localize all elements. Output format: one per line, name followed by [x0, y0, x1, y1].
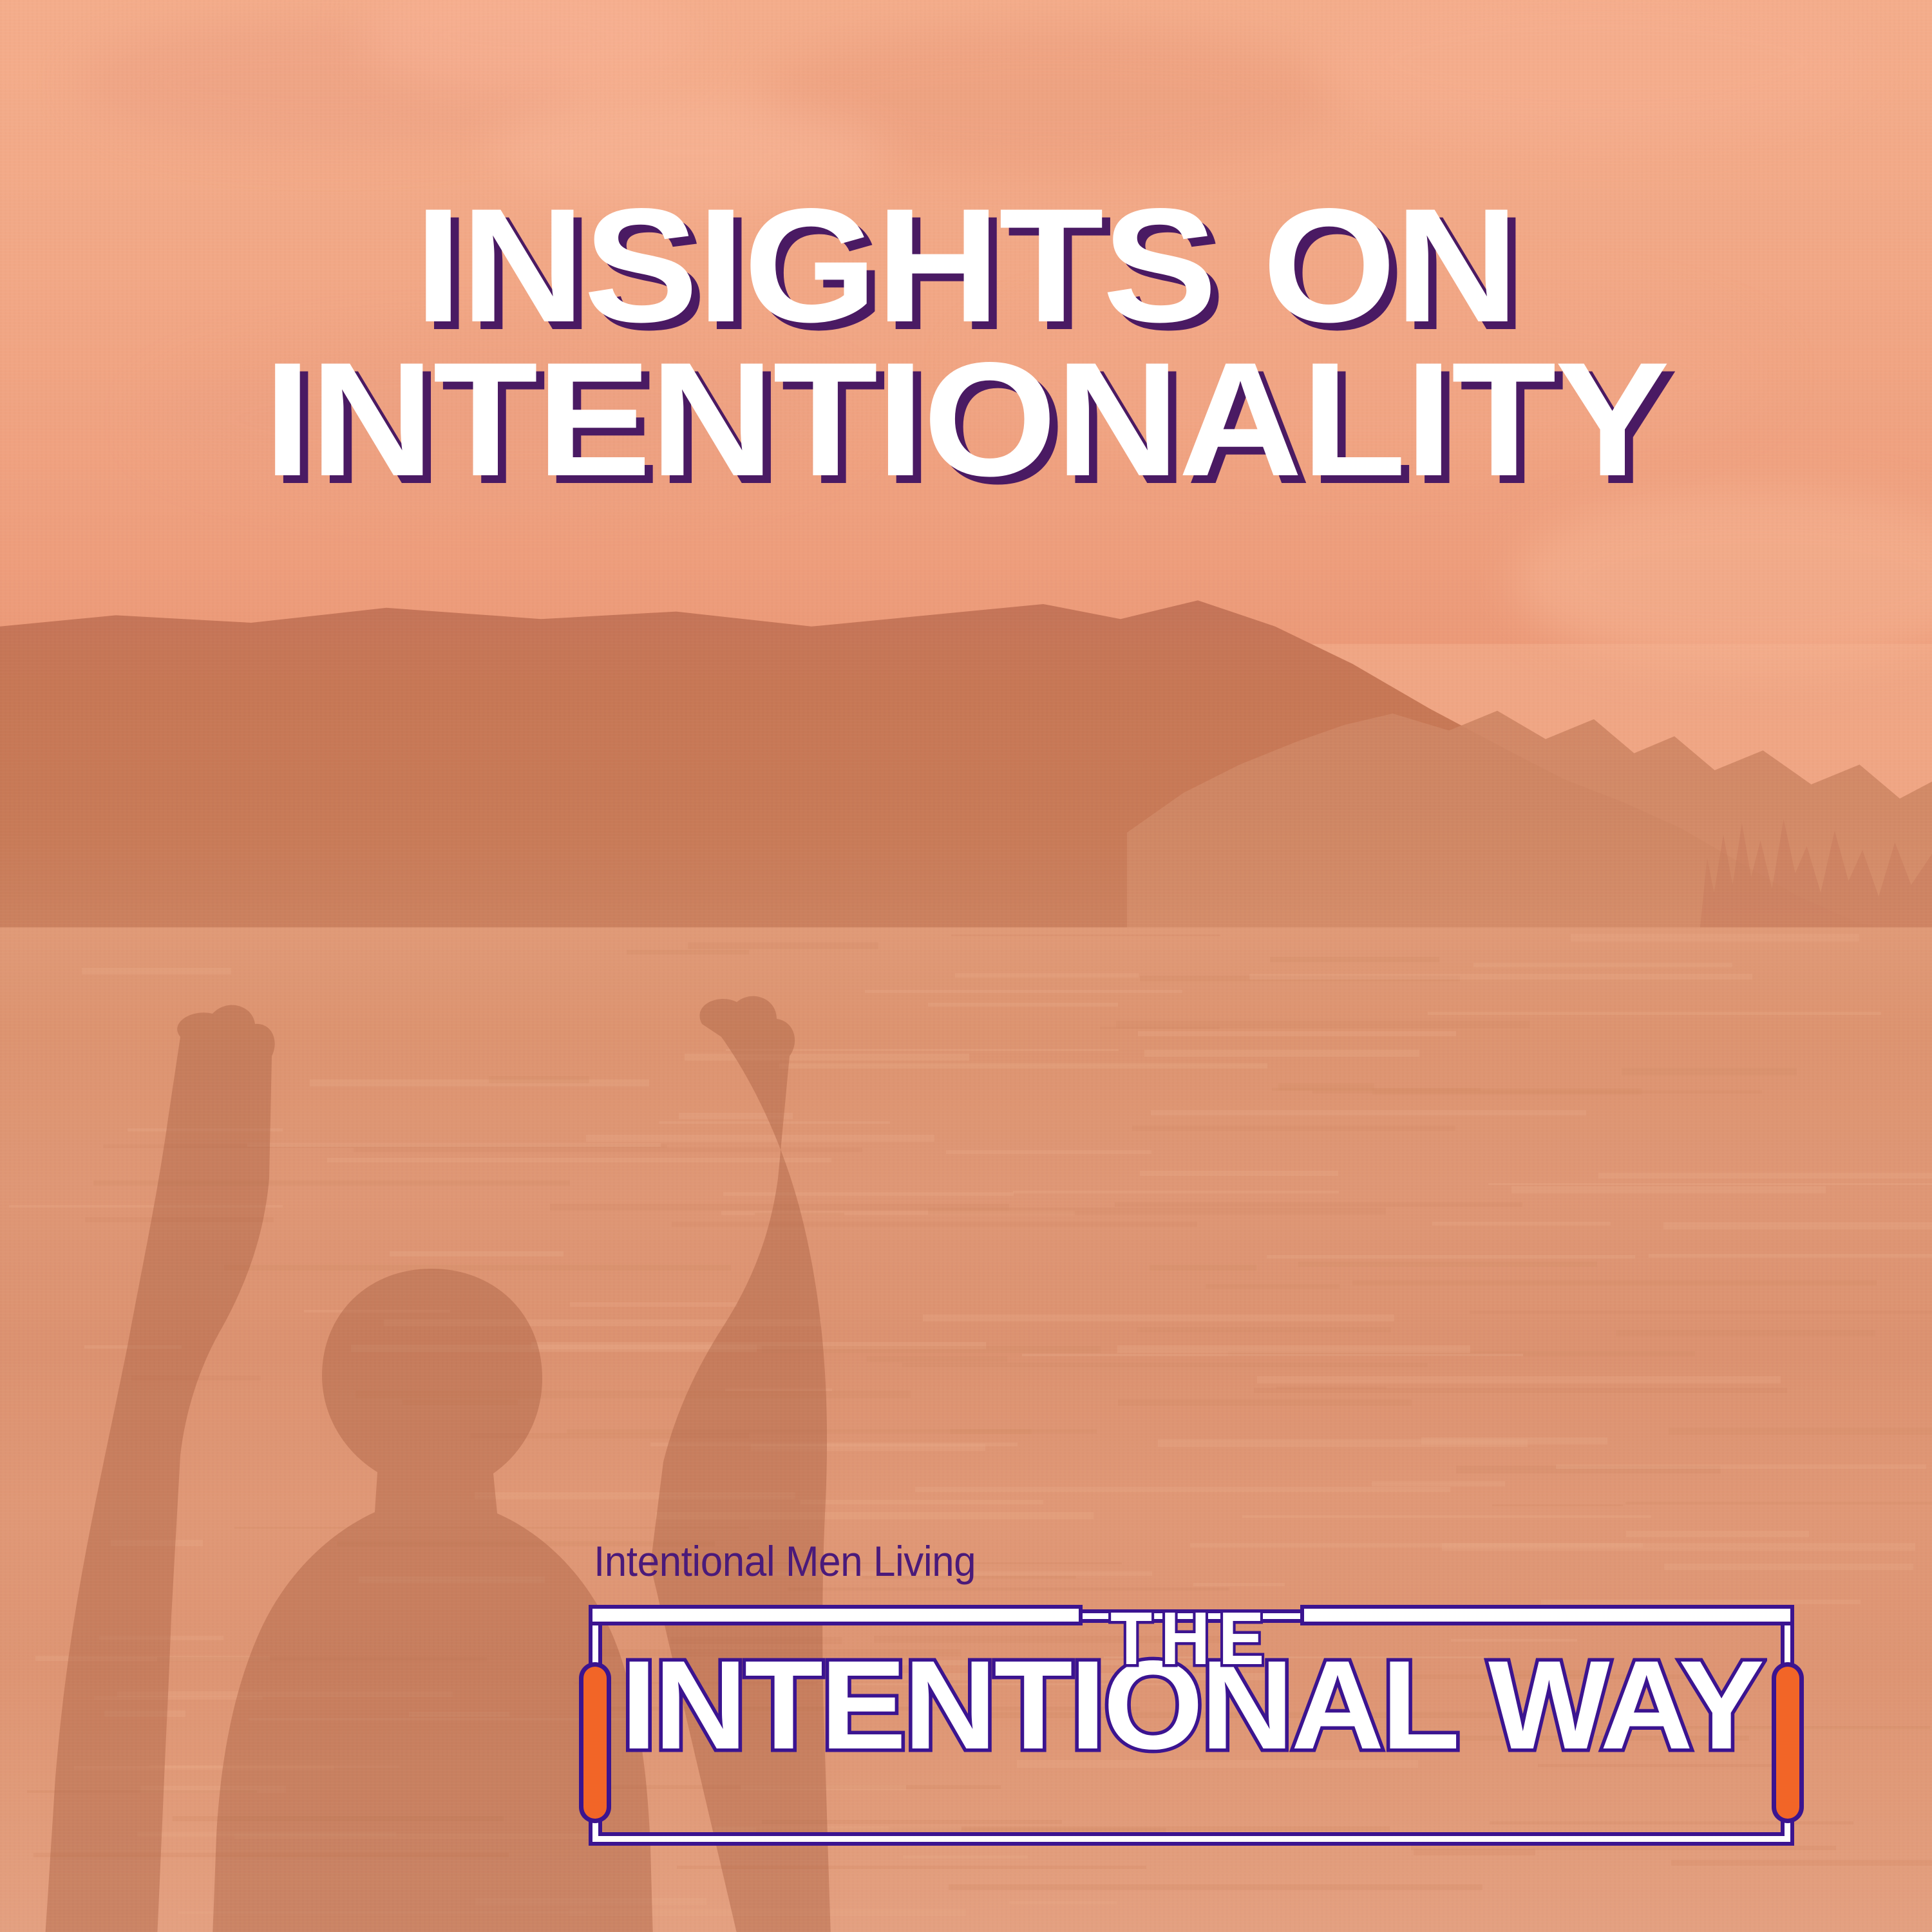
logo-accent-pill-left	[583, 1667, 607, 1819]
water-streak	[1556, 1464, 1926, 1469]
water-streak	[1022, 1354, 1522, 1357]
water-streak	[1492, 1504, 1624, 1506]
logo-tagline: Intentional Men Living	[594, 1537, 976, 1586]
water-streak	[1671, 1860, 1932, 1866]
water-streak	[1118, 1399, 1411, 1406]
water-streak	[1428, 1012, 1881, 1016]
water-streak	[1488, 1183, 1932, 1186]
episode-title: INSIGHTS ON INTENTIONALITY	[0, 193, 1932, 493]
water-streak	[1254, 1388, 1787, 1394]
water-streak	[1206, 1284, 1339, 1288]
water-streak	[946, 1150, 1151, 1154]
water-streak	[1267, 1255, 1635, 1259]
water-streak	[902, 1363, 1428, 1367]
logo-article-the: THE	[1102, 1601, 1281, 1676]
water-streak	[1625, 1502, 1932, 1504]
water-streak	[1352, 1280, 1877, 1286]
podcast-cover-art: INSIGHTS ON INTENTIONALITY Intentional M…	[0, 0, 1932, 1932]
water-streak	[1626, 1531, 1809, 1537]
logo-accent-pill-right	[1776, 1667, 1799, 1819]
water-streak	[1298, 1262, 1597, 1267]
water-streak	[1421, 1437, 1607, 1444]
water-streak	[1138, 1031, 1456, 1036]
water-streak	[1372, 1481, 1505, 1486]
water-streak	[1663, 1222, 1932, 1229]
water-streak	[1649, 1254, 1932, 1258]
water-streak	[923, 1314, 1394, 1321]
water-streak	[955, 973, 1139, 978]
water-streak	[928, 1003, 1118, 1007]
water-streak	[1150, 1265, 1256, 1271]
water-streak	[1511, 1186, 1826, 1193]
water-streak	[1117, 1345, 1470, 1353]
water-streak	[1257, 1376, 1781, 1383]
water-streak	[1137, 1327, 1392, 1333]
water-streak	[1270, 957, 1439, 962]
water-streak	[1009, 1901, 1117, 1904]
water-streak	[903, 1855, 1028, 1859]
cloud-shape	[1513, 489, 1932, 670]
water-streak	[1140, 1171, 1338, 1176]
water-streak	[928, 1207, 1387, 1215]
water-streak	[1242, 1515, 1651, 1518]
water-streak	[949, 1884, 1482, 1889]
water-streak	[1470, 1311, 1932, 1314]
water-streak	[915, 1487, 1450, 1492]
water-streak	[1312, 1090, 1763, 1094]
water-streak	[950, 1429, 1032, 1434]
water-streak	[951, 934, 1221, 936]
cloud-shape	[1320, 0, 1874, 142]
water-streak	[1100, 1027, 1220, 1029]
water-streak	[1432, 1222, 1611, 1226]
water-streak	[1278, 1083, 1374, 1090]
logo-the-banner: THE	[592, 1596, 1790, 1634]
water-streak	[1132, 1126, 1455, 1131]
episode-title-line-1: INSIGHTS ON	[0, 193, 1932, 339]
water-streak	[1115, 1202, 1522, 1207]
water-streak	[865, 990, 1182, 993]
water-streak	[82, 968, 231, 974]
water-streak	[1144, 1050, 1420, 1057]
logo-rule-right	[1304, 1609, 1790, 1622]
water-streak	[1598, 1173, 1932, 1179]
water-streak	[1473, 963, 1732, 967]
water-streak	[1622, 1068, 1796, 1075]
show-logo: Intentional Men Living THE INTENTIONAL W…	[592, 1546, 1803, 1848]
water-streak	[1013, 1191, 1338, 1193]
logo-rule-left	[592, 1609, 1079, 1622]
water-streak	[1151, 1110, 1586, 1115]
water-streak	[688, 942, 878, 949]
water-streak	[1669, 1428, 1932, 1435]
water-streak	[1571, 934, 1859, 942]
water-streak	[627, 950, 749, 954]
water-streak	[779, 1063, 1267, 1068]
water-streak	[1249, 974, 1752, 980]
episode-title-line-2: INTENTIONALITY	[0, 347, 1932, 493]
water-streak	[1616, 1330, 1875, 1336]
water-streak	[867, 1356, 1007, 1362]
